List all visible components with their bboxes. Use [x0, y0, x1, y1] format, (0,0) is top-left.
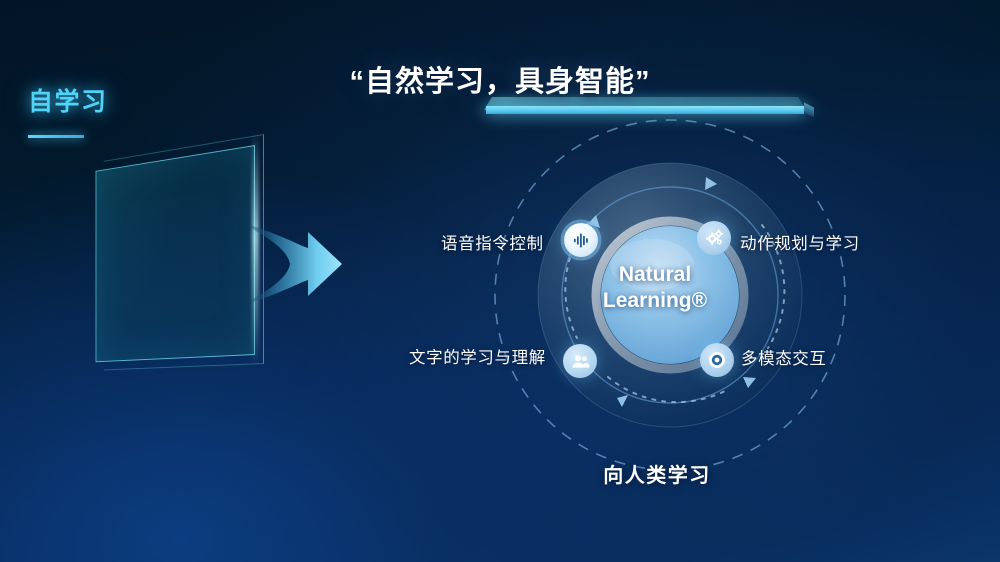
node-text-understanding[interactable] [563, 344, 597, 378]
self-learning-panel [70, 145, 255, 355]
sound-wave-icon [572, 231, 591, 250]
glass-panel-face [96, 145, 255, 362]
users-icon [571, 352, 590, 371]
node-label-text-understanding: 文字的学习与理解 [409, 344, 546, 368]
node-multimodal-interaction[interactable] [700, 343, 734, 377]
self-learning-underline [28, 135, 84, 138]
slide-title: “自然学习，具身智能” [0, 58, 1000, 100]
node-label-multimodal-interaction: 多模态交互 [741, 345, 827, 369]
presentation-slide: 自学习 “自然学习，具身智能” [0, 0, 1000, 562]
natural-learning-diagram [480, 105, 860, 485]
node-voice-command[interactable] [564, 223, 598, 257]
target-ring-icon [707, 350, 727, 370]
core-highlight [610, 239, 694, 291]
bottom-caption: 向人类学习 [497, 459, 817, 488]
self-learning-label: 自学习 [28, 82, 108, 118]
node-label-voice-command: 语音指令控制 [441, 230, 544, 254]
node-motion-planning[interactable] [697, 221, 731, 255]
node-label-motion-planning: 动作规划与学习 [740, 230, 860, 254]
self-learning-label-group: 自学习 [28, 82, 108, 138]
right-arrow-icon [238, 218, 344, 310]
gears-icon [704, 228, 725, 249]
